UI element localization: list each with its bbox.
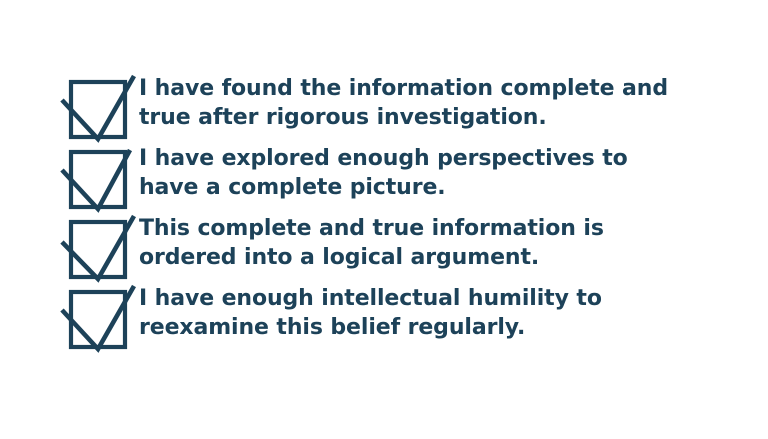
checked-checkbox-icon[interactable] (56, 140, 142, 210)
list-item[interactable]: I have enough intellectual humility to r… (56, 280, 716, 350)
list-item[interactable]: I have explored enough perspectives to h… (56, 140, 716, 210)
checklist: I have found the information complete an… (56, 70, 716, 350)
checked-checkbox-icon[interactable] (56, 210, 142, 280)
checked-checkbox-icon[interactable] (56, 70, 142, 140)
list-item-label: I have explored enough perspectives to h… (139, 140, 716, 202)
checklist-canvas: I have found the information complete an… (0, 0, 768, 439)
checked-checkbox-icon[interactable] (56, 280, 142, 350)
list-item-label: I have found the information complete an… (139, 70, 716, 132)
list-item-label: I have enough intellectual humility to r… (139, 280, 716, 342)
list-item[interactable]: I have found the information complete an… (56, 70, 716, 140)
list-item[interactable]: This complete and true information is or… (56, 210, 716, 280)
list-item-label: This complete and true information is or… (139, 210, 716, 272)
